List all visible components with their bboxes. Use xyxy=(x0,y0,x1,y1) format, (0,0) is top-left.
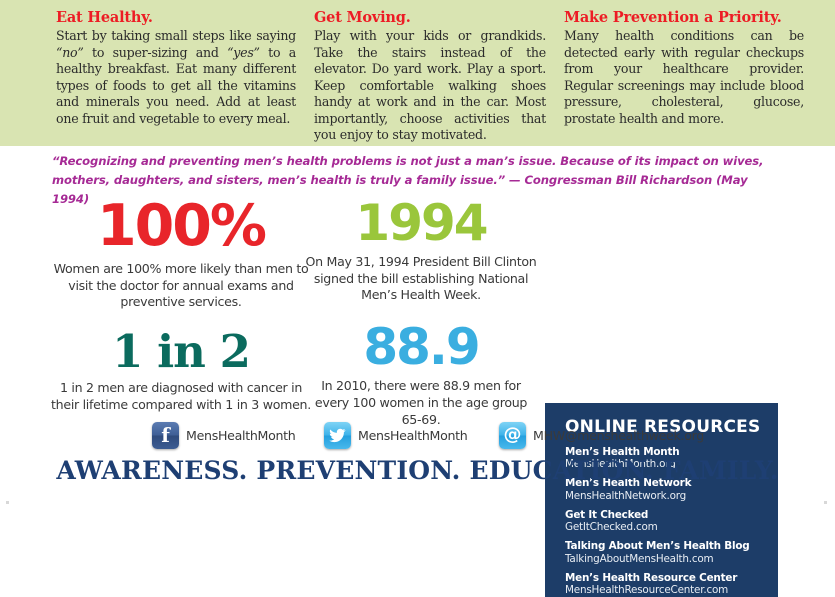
resource-url[interactable]: TalkingAboutMensHealth.com xyxy=(565,553,762,566)
email-at-icon[interactable]: @ xyxy=(499,422,526,449)
at-glyph: @ xyxy=(504,426,522,444)
tip-card-make-prevention-a-priority: Make Prevention a Priority. Many health … xyxy=(564,9,804,146)
twitter-bird-glyph xyxy=(329,428,346,443)
corner-mark-bottom-left xyxy=(6,501,9,504)
facebook-icon[interactable]: f xyxy=(152,422,179,449)
stat-block-100-percent: 100% Women are 100% more likely than men… xyxy=(50,198,312,311)
resource-name: Get It Checked xyxy=(565,509,762,521)
resource-item[interactable]: Talking About Men’s Health Blog TalkingA… xyxy=(565,540,762,565)
tip-title: Eat Healthy. xyxy=(56,9,296,27)
resource-url[interactable]: MensHealthResourceCenter.com xyxy=(565,584,762,597)
social-media-row: f MensHealthMonth MensHealthMonth @ MHW@… xyxy=(0,418,835,452)
stat-column-left: 100% Women are 100% more likely than men… xyxy=(50,198,312,414)
social-link-twitter[interactable]: MensHealthMonth xyxy=(324,422,467,449)
stat-number: 100% xyxy=(50,198,312,255)
resource-name: Men’s Health Resource Center xyxy=(565,572,762,584)
stat-number: 1 in 2 xyxy=(50,329,312,374)
facebook-handle: MensHealthMonth xyxy=(186,428,295,443)
corner-mark-bottom-right xyxy=(824,501,827,504)
stat-block-1-in-2: 1 in 2 1 in 2 men are diagnosed with can… xyxy=(50,329,312,413)
email-address: MHW@menshealthweek.org xyxy=(533,428,704,443)
quote-line-1: “Recognizing and preventing men’s health… xyxy=(52,152,783,171)
stat-description: Women are 100% more likely than men to v… xyxy=(50,261,312,311)
tip-title: Get Moving. xyxy=(314,9,546,27)
tip-card-eat-healthy: Eat Healthy. Start by taking small steps… xyxy=(56,9,296,146)
tip-body: Start by taking small steps like saying … xyxy=(56,28,296,127)
tip-body: Many health conditions can be detected e… xyxy=(564,28,804,127)
stat-number: 1994 xyxy=(305,198,537,248)
statistics-section: 100% Women are 100% more likely than men… xyxy=(0,198,835,410)
resource-item[interactable]: Get It Checked GetItChecked.com xyxy=(565,509,762,534)
stat-number: 88.9 xyxy=(305,322,537,372)
stat-description: On May 31, 1994 President Bill Clinton s… xyxy=(305,254,537,304)
resource-item[interactable]: Men’s Health Resource Center MensHealthR… xyxy=(565,572,762,597)
resource-name: Talking About Men’s Health Blog xyxy=(565,540,762,552)
stat-block-88-9: 88.9 In 2010, there were 88.9 men for ev… xyxy=(305,322,537,428)
tip-card-get-moving: Get Moving. Play with your kids or grand… xyxy=(314,9,546,146)
stat-block-1994: 1994 On May 31, 1994 President Bill Clin… xyxy=(305,198,537,304)
tip-title: Make Prevention a Priority. xyxy=(564,9,804,27)
tip-body: Play with your kids or grandkids. Take t… xyxy=(314,28,546,143)
social-link-email[interactable]: @ MHW@menshealthweek.org xyxy=(499,422,704,449)
stat-description: 1 in 2 men are diagnosed with cancer in … xyxy=(50,380,312,413)
twitter-handle: MensHealthMonth xyxy=(358,428,467,443)
campaign-tagline: AWARENESS. PREVENTION. EDUCATION. FAMILY… xyxy=(0,456,835,485)
social-link-facebook[interactable]: f MensHealthMonth xyxy=(152,422,295,449)
stat-column-middle: 1994 On May 31, 1994 President Bill Clin… xyxy=(305,198,537,428)
twitter-icon[interactable] xyxy=(324,422,351,449)
resource-url[interactable]: GetItChecked.com xyxy=(565,521,762,534)
facebook-glyph: f xyxy=(161,425,170,445)
health-tips-band: Eat Healthy. Start by taking small steps… xyxy=(0,0,835,146)
resource-url[interactable]: MensHealthNetwork.org xyxy=(565,490,762,503)
